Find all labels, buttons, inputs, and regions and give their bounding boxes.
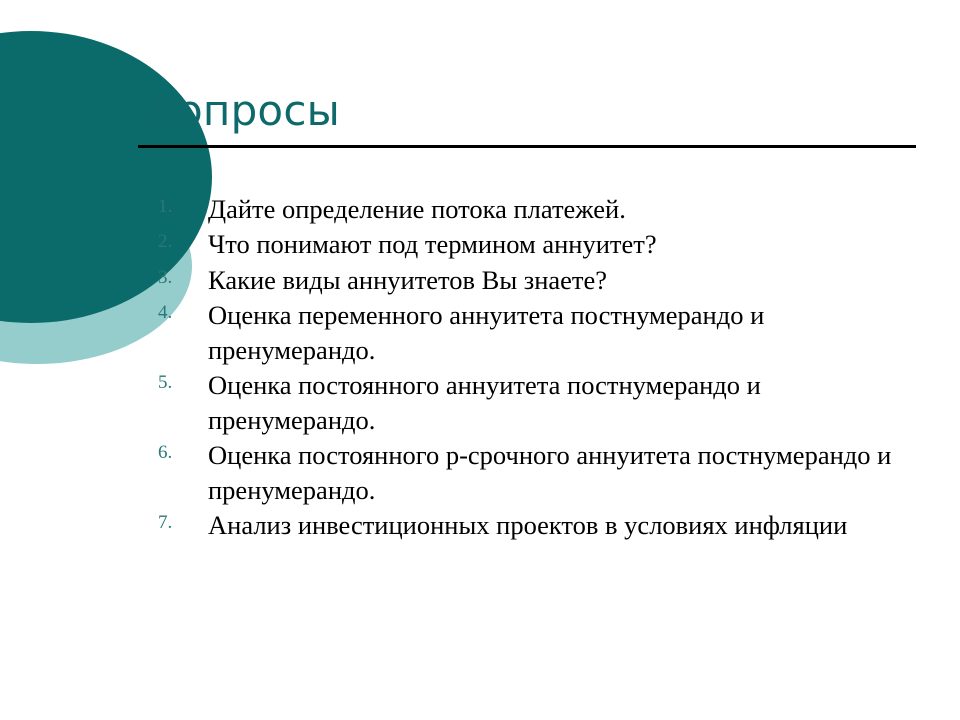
list-item-number: 5. — [158, 371, 192, 396]
title-underline-rule — [138, 145, 916, 148]
list-item: 2. Что понимают под термином аннуитет? — [158, 227, 918, 261]
list-item-text: Оценка постоянного аннуитета постнумеран… — [208, 368, 918, 437]
list-item-text: Оценка постоянного p-срочного аннуитета … — [208, 438, 918, 507]
list-item: 7. Анализ инвестиционных проектов в усло… — [158, 508, 918, 542]
list-item: 1. Дайте определение потока платежей. — [158, 192, 918, 226]
list-item-number: 6. — [158, 441, 192, 466]
list-item-text: Анализ инвестиционных проектов в условия… — [208, 508, 918, 542]
list-item-text: Оценка переменного аннуитета постнумеран… — [208, 298, 918, 367]
list-item-number: 7. — [158, 511, 192, 536]
slide-title: Вопросы — [138, 88, 918, 133]
list-item: 6. Оценка постоянного p-срочного аннуите… — [158, 438, 918, 507]
questions-list: 1. Дайте определение потока платежей. 2.… — [158, 192, 918, 543]
list-item: 4. Оценка переменного аннуитета постнуме… — [158, 298, 918, 367]
list-item: 3. Какие виды аннуитетов Вы знаете? — [158, 263, 918, 297]
list-item-number: 3. — [158, 266, 192, 291]
title-block: Вопросы — [138, 88, 918, 148]
list-item-number: 1. — [158, 195, 192, 220]
list-item-number: 4. — [158, 301, 192, 326]
list-item: 5. Оценка постоянного аннуитета постнуме… — [158, 368, 918, 437]
list-item-text: Что понимают под термином аннуитет? — [208, 227, 918, 261]
slide-canvas: Вопросы 1. Дайте определение потока плат… — [0, 0, 960, 720]
list-item-text: Дайте определение потока платежей. — [208, 192, 918, 226]
list-item-text: Какие виды аннуитетов Вы знаете? — [208, 263, 918, 297]
list-item-number: 2. — [158, 230, 192, 255]
